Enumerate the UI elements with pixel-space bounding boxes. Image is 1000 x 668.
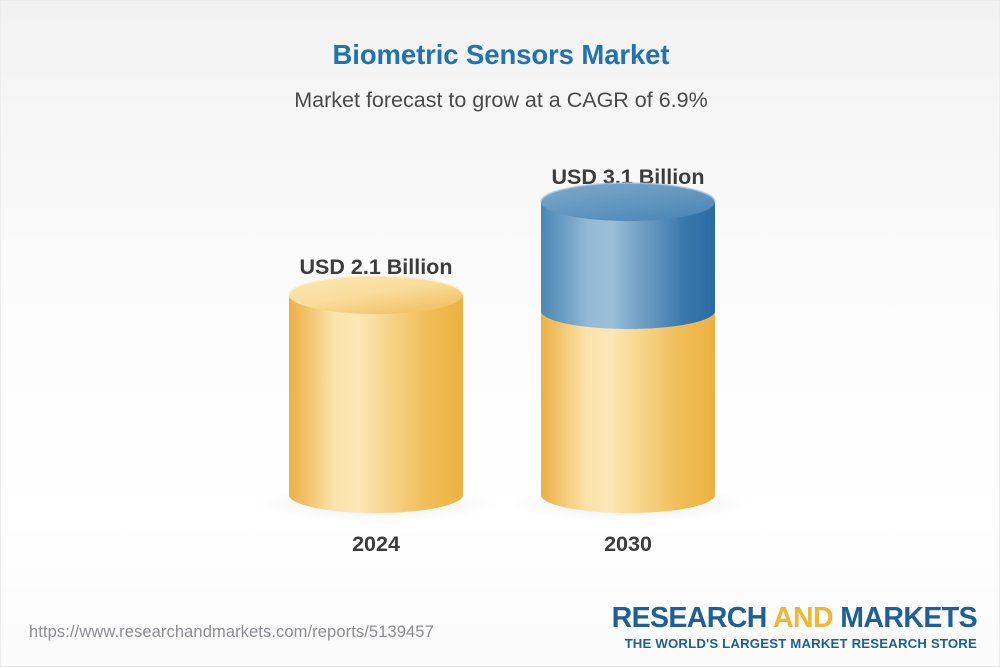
infographic-canvas: Biometric Sensors Market Market forecast…	[0, 0, 1000, 667]
bar-segment-base-body	[289, 295, 463, 513]
brand-logo[interactable]: RESEARCH AND MARKETS THE WORLD'S LARGEST…	[612, 603, 977, 651]
cylinder-2030	[478, 151, 778, 531]
brand-wordmark-markets: MARKETS	[833, 602, 977, 634]
bar-segment-growth-body	[541, 202, 715, 329]
chart-plot-area: USD 2.1 Billion	[1, 1, 1000, 668]
cylinder-2030-svg	[478, 151, 778, 531]
bar-segment-base-body	[541, 311, 715, 513]
brand-wordmark-and: AND	[773, 602, 833, 634]
category-label-2030: 2030	[478, 532, 778, 557]
source-url[interactable]: https://www.researchandmarkets.com/repor…	[29, 623, 434, 642]
brand-wordmark: RESEARCH AND MARKETS	[612, 603, 977, 633]
brand-wordmark-research: RESEARCH	[612, 602, 773, 634]
brand-tagline: THE WORLD'S LARGEST MARKET RESEARCH STOR…	[612, 636, 977, 651]
